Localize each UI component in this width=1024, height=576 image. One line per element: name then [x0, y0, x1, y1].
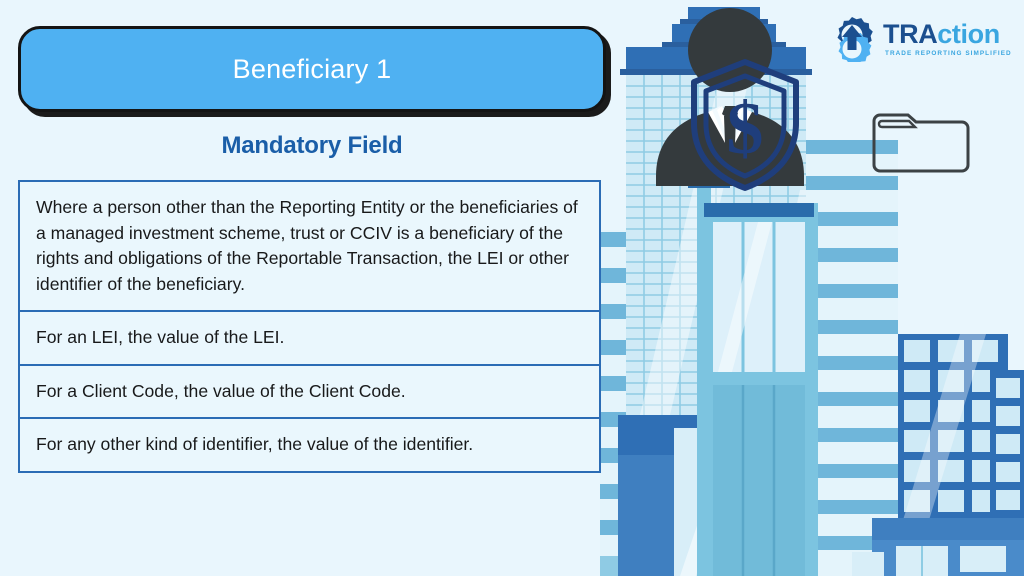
brand-name-suffix: ction	[937, 19, 1000, 49]
table-row: For any other kind of identifier, the va…	[20, 419, 599, 471]
shield-dollar-icon: $	[686, 57, 804, 193]
title-banner: Beneficiary 1	[18, 26, 606, 112]
page-title: Beneficiary 1	[233, 54, 392, 85]
table-row: For a Client Code, the value of the Clie…	[20, 366, 599, 420]
field-definition-table: Where a person other than the Reporting …	[18, 180, 601, 473]
table-cell-text: For an LEI, the value of the LEI.	[36, 325, 584, 351]
section-subtitle: Mandatory Field	[18, 132, 606, 160]
cityscape-illustration	[600, 0, 1024, 576]
brand-logo: TRAction TRADE REPORTING SIMPLIFIED	[828, 10, 1014, 66]
brand-name-prefix: TRA	[883, 19, 937, 49]
table-cell-text: For any other kind of identifier, the va…	[36, 432, 584, 458]
table-cell-text: For a Client Code, the value of the Clie…	[36, 379, 584, 405]
gear-upload-icon	[828, 14, 876, 62]
svg-text:$: $	[727, 88, 764, 170]
illustration-panel	[600, 0, 1024, 576]
brand-name: TRAction	[883, 21, 1012, 48]
table-row: For an LEI, the value of the LEI.	[20, 312, 599, 366]
table-cell-text: Where a person other than the Reporting …	[36, 195, 584, 297]
atrium-building	[688, 150, 818, 576]
page-title-banner: Beneficiary 1	[18, 26, 606, 112]
brand-tagline: TRADE REPORTING SIMPLIFIED	[883, 51, 1012, 57]
table-row: Where a person other than the Reporting …	[20, 182, 599, 312]
folder-icon	[869, 110, 973, 176]
